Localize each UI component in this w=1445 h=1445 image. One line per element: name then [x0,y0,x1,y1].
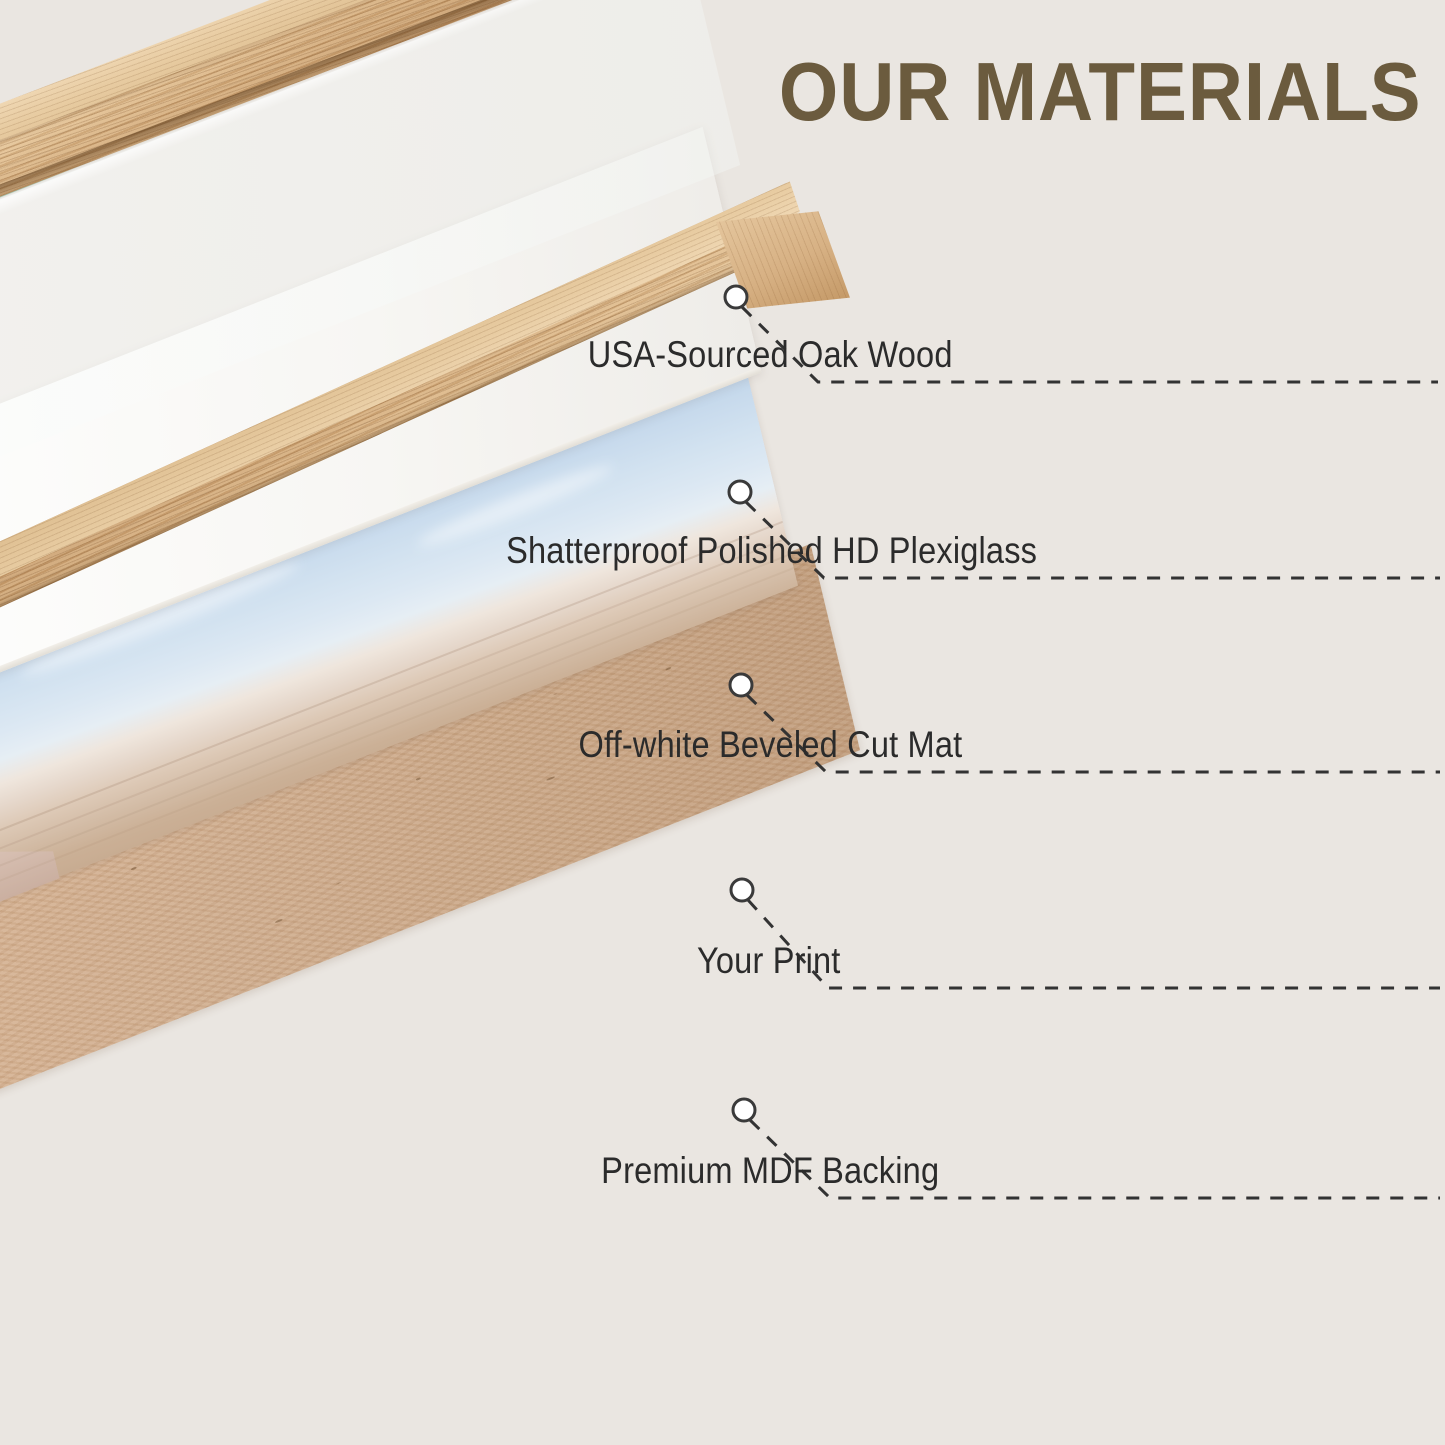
callout-label-plexiglass: Shatterproof Polished HD Plexiglass [136,530,1408,572]
infographic-canvas: USA-Sourced Oak Wood Shatterproof Polish… [0,0,1445,1445]
callout-labels: USA-Sourced Oak Wood Shatterproof Polish… [0,0,1445,1445]
callout-label-mdf-backing: Premium MDF Backing [134,1150,1406,1192]
callout-label-print: Your Print [133,940,1405,982]
callout-label-mat: Off-white Beveled Cut Mat [135,724,1407,766]
page-title: OUR MATERIALS [778,44,1421,140]
callout-label-oak-wood: USA-Sourced Oak Wood [134,334,1406,376]
